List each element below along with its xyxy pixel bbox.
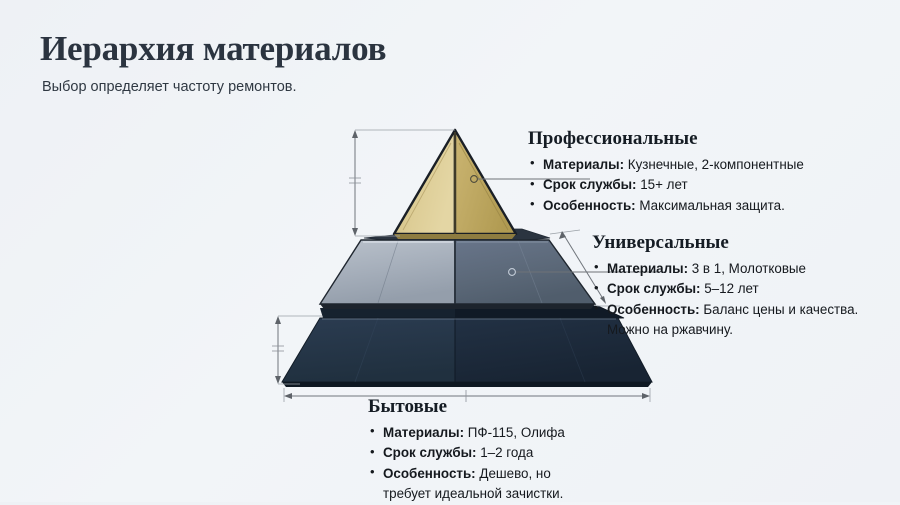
callout-basic: Бытовые Материалы: ПФ-115, Олифа Срок сл… xyxy=(368,396,698,505)
bullet-value: Дешево, но xyxy=(479,466,550,481)
bullet-label: Срок службы: xyxy=(543,177,637,192)
slide-root: Иерархия материалов Выбор определяет час… xyxy=(0,0,900,502)
bullet-label: Особенность: xyxy=(543,198,636,213)
page-subtitle: Выбор определяет частоту ремонтов. xyxy=(42,79,600,95)
callout-list-universal: Материалы: 3 в 1, Молотковые Срок службы… xyxy=(592,259,898,340)
bullet-value: 1–2 года xyxy=(480,445,533,460)
bullet-value: Кузнечные, 2-компонентные xyxy=(628,157,804,172)
callout-title-professional: Профессиональные xyxy=(528,128,896,151)
callout-professional: Профессиональные Материалы: Кузнечные, 2… xyxy=(528,128,896,216)
bullet-value: 5–12 лет xyxy=(704,281,758,296)
list-item: Материалы: ПФ-115, Олифа xyxy=(368,423,698,443)
slide-header: Иерархия материалов Выбор определяет час… xyxy=(40,30,600,95)
pyramid-tier-universal xyxy=(320,229,595,309)
list-item: Особенность: Максимальная защита. xyxy=(528,196,896,216)
list-item: Особенность: Дешево, но xyxy=(368,464,698,484)
bullet-label: Срок службы: xyxy=(607,281,701,296)
bullet-value: Максимальная защита. xyxy=(639,198,784,213)
list-item: Материалы: 3 в 1, Молотковые xyxy=(592,259,898,279)
bullet-value: 3 в 1, Молотковые xyxy=(692,261,806,276)
callout-title-basic: Бытовые xyxy=(368,396,698,419)
list-item: Срок службы: 15+ лет xyxy=(528,175,896,195)
list-item: Материалы: Кузнечные, 2-компонентные xyxy=(528,155,896,175)
bullet-value: Баланс цены и качества. xyxy=(703,302,858,317)
bullet-value: ПФ-115, Олифа xyxy=(468,425,565,440)
list-item: Срок службы: 5–12 лет xyxy=(592,279,898,299)
list-item-continuation: Можно на ржавчину. xyxy=(592,320,898,340)
callout-universal: Универсальные Материалы: 3 в 1, Молотков… xyxy=(592,232,898,341)
bullet-label: Материалы: xyxy=(607,261,688,276)
callout-list-professional: Материалы: Кузнечные, 2-компонентные Сро… xyxy=(528,155,896,216)
bullet-label: Особенность: xyxy=(383,466,476,481)
bullet-label: Срок службы: xyxy=(383,445,477,460)
list-item: Срок службы: 1–2 года xyxy=(368,443,698,463)
callout-title-universal: Универсальные xyxy=(592,232,898,255)
bullet-label: Материалы: xyxy=(383,425,464,440)
bullet-label: Особенность: xyxy=(607,302,700,317)
bullet-value: 15+ лет xyxy=(640,177,687,192)
pyramid-tier-professional xyxy=(394,130,516,239)
list-item: Особенность: Баланс цены и качества. xyxy=(592,300,898,320)
bullet-label: Материалы: xyxy=(543,157,624,172)
page-title: Иерархия материалов xyxy=(40,30,600,69)
callout-list-basic: Материалы: ПФ-115, Олифа Срок службы: 1–… xyxy=(368,423,698,504)
list-item-continuation: требует идеальной зачистки. xyxy=(368,484,698,504)
